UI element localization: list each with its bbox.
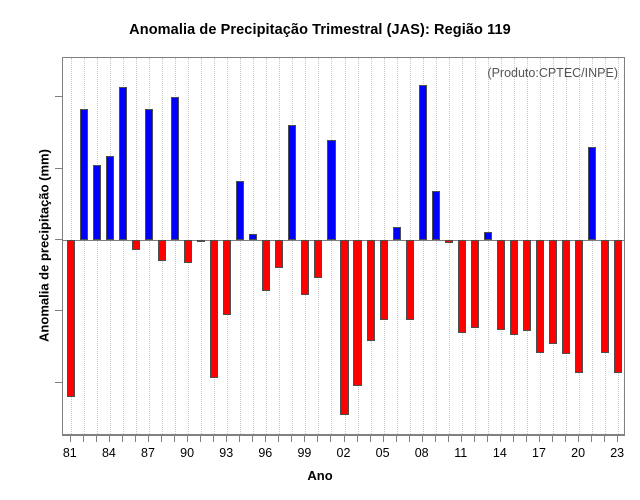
gridline [436,58,437,434]
bar-1981 [67,240,75,398]
x-tick-mark [409,435,410,442]
x-tick-mark [239,435,240,442]
bar-2013 [484,232,492,240]
bar-2012 [471,240,479,328]
x-tick-mark [513,435,514,442]
x-tick-mark [161,435,162,442]
bar-2007 [406,240,414,320]
bar-1987 [145,109,153,240]
x-tick-mark [552,435,553,442]
x-tick-mark [330,435,331,442]
x-tick-mark [500,435,501,442]
x-tick-mark [578,435,579,442]
bar-2022 [601,240,609,353]
bar-1998 [288,125,296,240]
bar-2004 [367,240,375,341]
x-tick-mark [135,435,136,442]
gridline [449,58,450,434]
bar-1986 [132,240,140,250]
x-tick-label: 81 [55,446,85,460]
x-tick-mark [435,435,436,442]
bar-1984 [106,156,114,240]
x-tick-mark [278,435,279,442]
bar-1996 [262,240,270,291]
x-tick-mark [396,435,397,442]
bar-1999 [301,240,309,295]
gridline [488,58,489,434]
x-tick-mark [461,435,462,442]
y-tick-mark [55,168,62,169]
x-tick-mark [122,435,123,442]
bar-1989 [171,97,179,240]
gridline [331,58,332,434]
x-tick-mark [357,435,358,442]
bar-2014 [497,240,505,331]
bar-1995 [249,234,257,240]
x-tick-mark [422,435,423,442]
gridline [592,58,593,434]
x-tick-mark [226,435,227,442]
bar-1985 [119,87,127,240]
x-tick-label: 05 [368,446,398,460]
bar-2003 [353,240,361,386]
x-tick-label: 11 [446,446,476,460]
x-tick-mark [96,435,97,442]
x-tick-mark [617,435,618,442]
bar-2016 [523,240,531,331]
x-tick-label: 17 [524,446,554,460]
x-tick-mark [344,435,345,442]
bar-2015 [510,240,518,335]
bar-2009 [432,191,440,240]
bar-2019 [562,240,570,354]
gridline [397,58,398,434]
source-annotation: (Produto:CPTEC/INPE) [487,66,618,80]
bar-1997 [275,240,283,269]
bar-2008 [419,85,427,240]
x-tick-label: 14 [485,446,515,460]
gridline [201,58,202,434]
x-tick-mark [148,435,149,442]
x-axis-line [62,435,625,436]
bar-2002 [340,240,348,415]
bar-1990 [184,240,192,264]
bar-2020 [575,240,583,373]
x-tick-label: 93 [211,446,241,460]
x-tick-mark [539,435,540,442]
x-tick-label: 87 [133,446,163,460]
bar-2006 [393,227,401,240]
page-title: Anomalia de Precipitação Trimestral (JAS… [0,22,640,38]
x-tick-mark [213,435,214,442]
y-tick-mark [55,239,62,240]
y-tick-mark [55,310,62,311]
bar-1982 [80,109,88,240]
bar-1988 [158,240,166,261]
x-tick-mark [252,435,253,442]
gridline [253,58,254,434]
y-axis-label: Anomalia de precipitação (mm) [37,96,52,396]
x-tick-mark [448,435,449,442]
bar-1991 [197,240,205,242]
bar-2023 [614,240,622,373]
x-tick-label: 08 [407,446,437,460]
bar-1994 [236,181,244,240]
x-tick-mark [70,435,71,442]
x-tick-mark [187,435,188,442]
x-tick-mark [474,435,475,442]
x-tick-mark [526,435,527,442]
gridline [240,58,241,434]
bar-2005 [380,240,388,320]
x-tick-mark [591,435,592,442]
bar-2017 [536,240,544,353]
gridline [292,58,293,434]
plot-area: (Produto:CPTEC/INPE) [62,57,625,435]
x-tick-mark [487,435,488,442]
x-tick-mark [317,435,318,442]
x-tick-mark [565,435,566,442]
y-tick-mark [55,96,62,97]
x-tick-label: 90 [172,446,202,460]
x-tick-mark [304,435,305,442]
x-tick-mark [383,435,384,442]
x-tick-mark [200,435,201,442]
x-tick-mark [604,435,605,442]
x-tick-mark [174,435,175,442]
x-tick-mark [291,435,292,442]
gridline [97,58,98,434]
bar-1983 [93,165,101,240]
x-tick-mark [370,435,371,442]
x-tick-label: 96 [250,446,280,460]
x-tick-label: 20 [563,446,593,460]
bar-2010 [445,240,453,243]
x-axis-label: Ano [0,468,640,483]
bar-2000 [314,240,322,279]
bar-1993 [223,240,231,315]
x-tick-mark [109,435,110,442]
gridline [110,58,111,434]
bar-1992 [210,240,218,378]
x-tick-label: 99 [289,446,319,460]
x-tick-mark [265,435,266,442]
y-tick-mark [55,382,62,383]
bar-2001 [327,140,335,240]
x-tick-mark [83,435,84,442]
bar-2011 [458,240,466,333]
x-tick-label: 23 [602,446,632,460]
bar-2018 [549,240,557,344]
precipitation-anomaly-chart: Anomalia de Precipitação Trimestral (JAS… [0,0,640,500]
x-tick-label: 84 [94,446,124,460]
bar-2021 [588,147,596,240]
x-tick-label: 02 [329,446,359,460]
